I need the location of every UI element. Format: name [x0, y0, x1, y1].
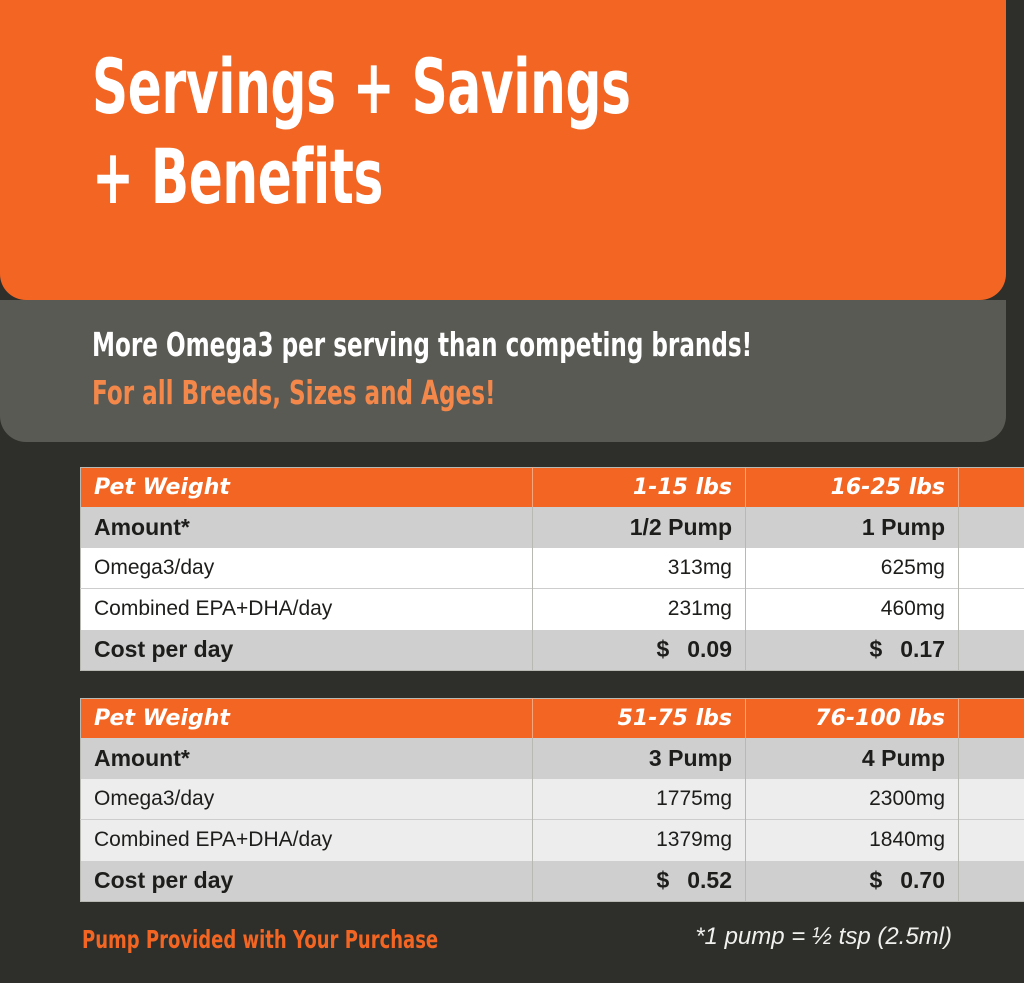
row-value: 2300mg [746, 779, 959, 820]
currency-symbol: $ [869, 636, 882, 662]
row-value: 313mg [533, 548, 746, 589]
table-header-row: Pet Weight 1-15 lbs 16-25 lbs 26-50 lbs [81, 468, 1024, 507]
cost-amount: 0.52 [687, 867, 732, 893]
row-value: 1379mg [533, 820, 746, 861]
row-label: Cost per day [81, 630, 533, 671]
subtitle-line-secondary: For all Breeds, Sizes and Ages! [92, 376, 495, 409]
cost-amount: 0.09 [687, 636, 732, 662]
currency-symbol: $ [656, 636, 669, 662]
row-value-cost: $0.87 [959, 861, 1024, 902]
row-value-cost: $0.09 [533, 630, 746, 671]
row-label: Combined EPA+DHA/day [81, 820, 533, 861]
row-value: 1150mg [959, 548, 1024, 589]
column-header-weight-range: 100+ lbs [959, 699, 1024, 738]
currency-symbol: $ [656, 867, 669, 893]
row-value: 2925mg [959, 779, 1024, 820]
row-value: 231mg [533, 589, 746, 630]
table-header-row: Pet Weight 51-75 lbs 76-100 lbs 100+ lbs [81, 699, 1024, 738]
dosage-table-large-breeds: Pet Weight 51-75 lbs 76-100 lbs 100+ lbs… [80, 698, 1024, 902]
table-row: Cost per day $0.52 $0.70 $0.87 [81, 861, 1024, 902]
row-value: 1/2 Pump [533, 507, 746, 548]
table-row: Amount* 1/2 Pump 1 Pump 2 Pumps [81, 507, 1024, 548]
row-label: Omega3/day [81, 779, 533, 820]
column-header-pet-weight: Pet Weight [81, 699, 533, 738]
column-header-weight-range: 26-50 lbs [959, 468, 1024, 507]
column-header-weight-range: 16-25 lbs [746, 468, 959, 507]
column-header-pet-weight: Pet Weight [81, 468, 533, 507]
hero-card: Servings + Savings + Benefits [0, 0, 1006, 300]
row-value: 2 Pumps [959, 507, 1024, 548]
row-value: 5 Pumps [959, 738, 1024, 779]
subtitle-card: More Omega3 per serving than competing b… [0, 300, 1006, 442]
row-value: 1840mg [746, 820, 959, 861]
footer-pump-note: Pump Provided with Your Purchase [82, 927, 438, 952]
table-row: Omega3/day 313mg 625mg 1150mg [81, 548, 1024, 589]
table-row: Amount* 3 Pump 4 Pump 5 Pumps [81, 738, 1024, 779]
cost-amount: 0.70 [900, 867, 945, 893]
footer-serving-size-note: *1 pump = ½ tsp (2.5ml) [695, 925, 952, 949]
table-row: Omega3/day 1775mg 2300mg 2925mg [81, 779, 1024, 820]
row-label: Amount* [81, 738, 533, 779]
table-row: Cost per day $0.09 $0.17 $0.35 [81, 630, 1024, 671]
row-value-cost: $0.52 [533, 861, 746, 902]
row-label: Amount* [81, 507, 533, 548]
row-value: 2299mg [959, 820, 1024, 861]
table-row: Combined EPA+DHA/day 1379mg 1840mg 2299m… [81, 820, 1024, 861]
row-value-cost: $0.17 [746, 630, 959, 671]
row-value: 460mg [746, 589, 959, 630]
row-value: 920mg [959, 589, 1024, 630]
row-label: Combined EPA+DHA/day [81, 589, 533, 630]
page-title: Servings + Savings + Benefits [92, 42, 673, 221]
row-value-cost: $0.35 [959, 630, 1024, 671]
row-value-cost: $0.70 [746, 861, 959, 902]
row-label: Cost per day [81, 861, 533, 902]
row-value: 1775mg [533, 779, 746, 820]
column-header-weight-range: 1-15 lbs [533, 468, 746, 507]
currency-symbol: $ [869, 867, 882, 893]
row-value: 4 Pump [746, 738, 959, 779]
column-header-weight-range: 51-75 lbs [533, 699, 746, 738]
table-row: Combined EPA+DHA/day 231mg 460mg 920mg [81, 589, 1024, 630]
subtitle-line-primary: More Omega3 per serving than competing b… [92, 328, 752, 361]
dosage-table-small-breeds: Pet Weight 1-15 lbs 16-25 lbs 26-50 lbs … [80, 467, 1024, 671]
row-label: Omega3/day [81, 548, 533, 589]
column-header-weight-range: 76-100 lbs [746, 699, 959, 738]
row-value: 1 Pump [746, 507, 959, 548]
row-value: 3 Pump [533, 738, 746, 779]
cost-amount: 0.17 [900, 636, 945, 662]
row-value: 625mg [746, 548, 959, 589]
